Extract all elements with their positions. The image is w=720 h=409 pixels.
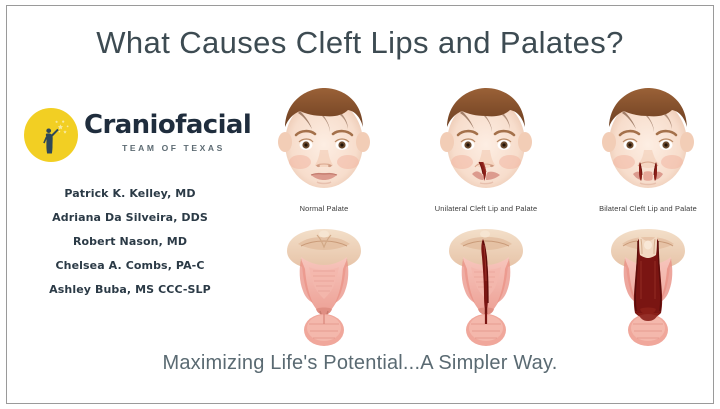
slide-tagline: Maximizing Life's Potential...A Simpler … [0,352,720,375]
figure-caption: Unilateral Cleft Lip and Palate [394,204,578,213]
infant-face-bilateral-cleft-icon [570,80,720,200]
list-item: Adriana Da Silveira, DDS [10,206,250,230]
logo-text-block: Craniofacial TEAM OF TEXAS [84,112,259,153]
person-reaching-stars-icon [23,107,79,163]
logo-name: Craniofacial [84,112,259,138]
list-item: Robert Nason, MD [10,230,250,254]
list-item: Chelsea A. Combs, PA-C [10,254,250,278]
figure-caption: Normal Palate [232,204,416,213]
figure-column-normal: Normal Palate [246,80,402,350]
list-item: Patrick K. Kelley, MD [10,182,250,206]
figure-column-bilateral: Bilateral Cleft Lip and Palate [570,80,720,350]
logo-subtitle: TEAM OF TEXAS [84,143,259,153]
presentation-slide: What Causes Cleft Lips and Palates? [0,0,720,409]
palate-unilateral-cleft-icon [408,225,564,350]
figure-caption: Bilateral Cleft Lip and Palate [556,204,720,213]
figure-column-unilateral: Unilateral Cleft Lip and Palate [408,80,564,350]
infant-face-normal-icon [246,80,402,200]
organization-logo: Craniofacial TEAM OF TEXAS [18,104,258,166]
list-item: Ashley Buba, MS CCC-SLP [10,278,250,302]
illustration-grid: Normal Palate [246,80,714,350]
page-title: What Causes Cleft Lips and Palates? [0,25,720,61]
infant-face-unilateral-cleft-icon [408,80,564,200]
palate-normal-icon [246,225,402,350]
palate-bilateral-cleft-icon [570,225,720,350]
presenter-list: Patrick K. Kelley, MD Adriana Da Silveir… [10,182,250,302]
